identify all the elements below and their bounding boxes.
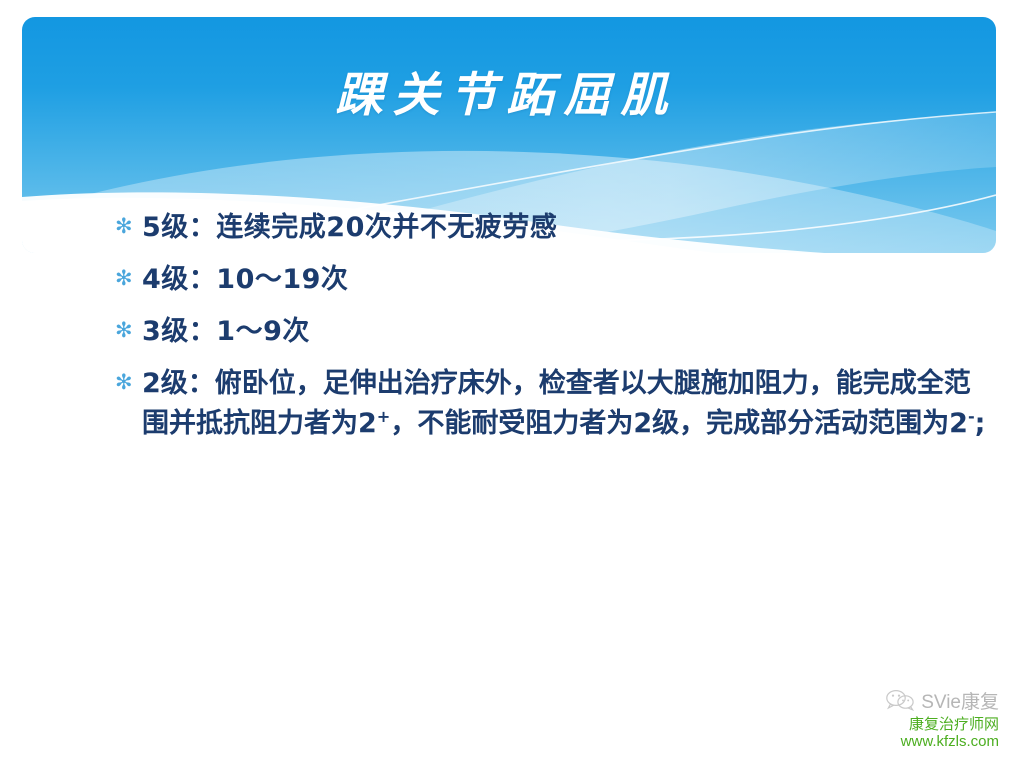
asterisk-bullet-icon: ✻ (110, 364, 142, 400)
list-item-label: 4级：10～19次 (142, 260, 990, 299)
watermark-site-url: www.kfzls.com (799, 733, 999, 750)
watermark-brand-label: SVie康复 (921, 687, 999, 714)
list-item: ✻ 5级：连续完成20次并不无疲劳感 (110, 208, 990, 247)
list-item-paragraph-label: 2级：俯卧位，足伸出治疗床外，检查者以大腿施加阻力，能完成全范围并抵抗阻力者为2… (142, 364, 990, 444)
watermark-brand-row: SVie康复 (799, 685, 999, 715)
slide-canvas: 踝关节跖屈肌 ✻ 5级：连续完成20次并不无疲劳感 ✻ 4级：10～19次 ✻ … (0, 0, 1013, 758)
list-item-paragraph: ✻ 2级：俯卧位，足伸出治疗床外，检查者以大腿施加阻力，能完成全范围并抵抗阻力者… (110, 364, 990, 444)
paragraph-part-3: ; (975, 408, 986, 439)
list-item: ✻ 4级：10～19次 (110, 260, 990, 299)
superscript-plus: + (377, 407, 391, 426)
superscript-minus: - (968, 407, 975, 426)
list-item-label: 3级：1～9次 (142, 312, 990, 351)
asterisk-bullet-icon: ✻ (110, 208, 142, 244)
watermark-site-cn: 康复治疗师网 (799, 716, 999, 733)
asterisk-bullet-icon: ✻ (110, 312, 142, 348)
page-title: 踝关节跖屈肌 (0, 70, 1013, 122)
wechat-icon (885, 689, 915, 711)
asterisk-bullet-icon: ✻ (110, 260, 142, 296)
list-item-label: 5级：连续完成20次并不无疲劳感 (142, 208, 990, 247)
bullet-list: ✻ 5级：连续完成20次并不无疲劳感 ✻ 4级：10～19次 ✻ 3级：1～9次… (110, 208, 990, 457)
list-item: ✻ 3级：1～9次 (110, 312, 990, 351)
paragraph-part-2: ，不能耐受阻力者为2级，完成部分活动范围为2 (390, 408, 968, 439)
watermark: SVie康复 康复治疗师网 www.kfzls.com (799, 685, 999, 750)
